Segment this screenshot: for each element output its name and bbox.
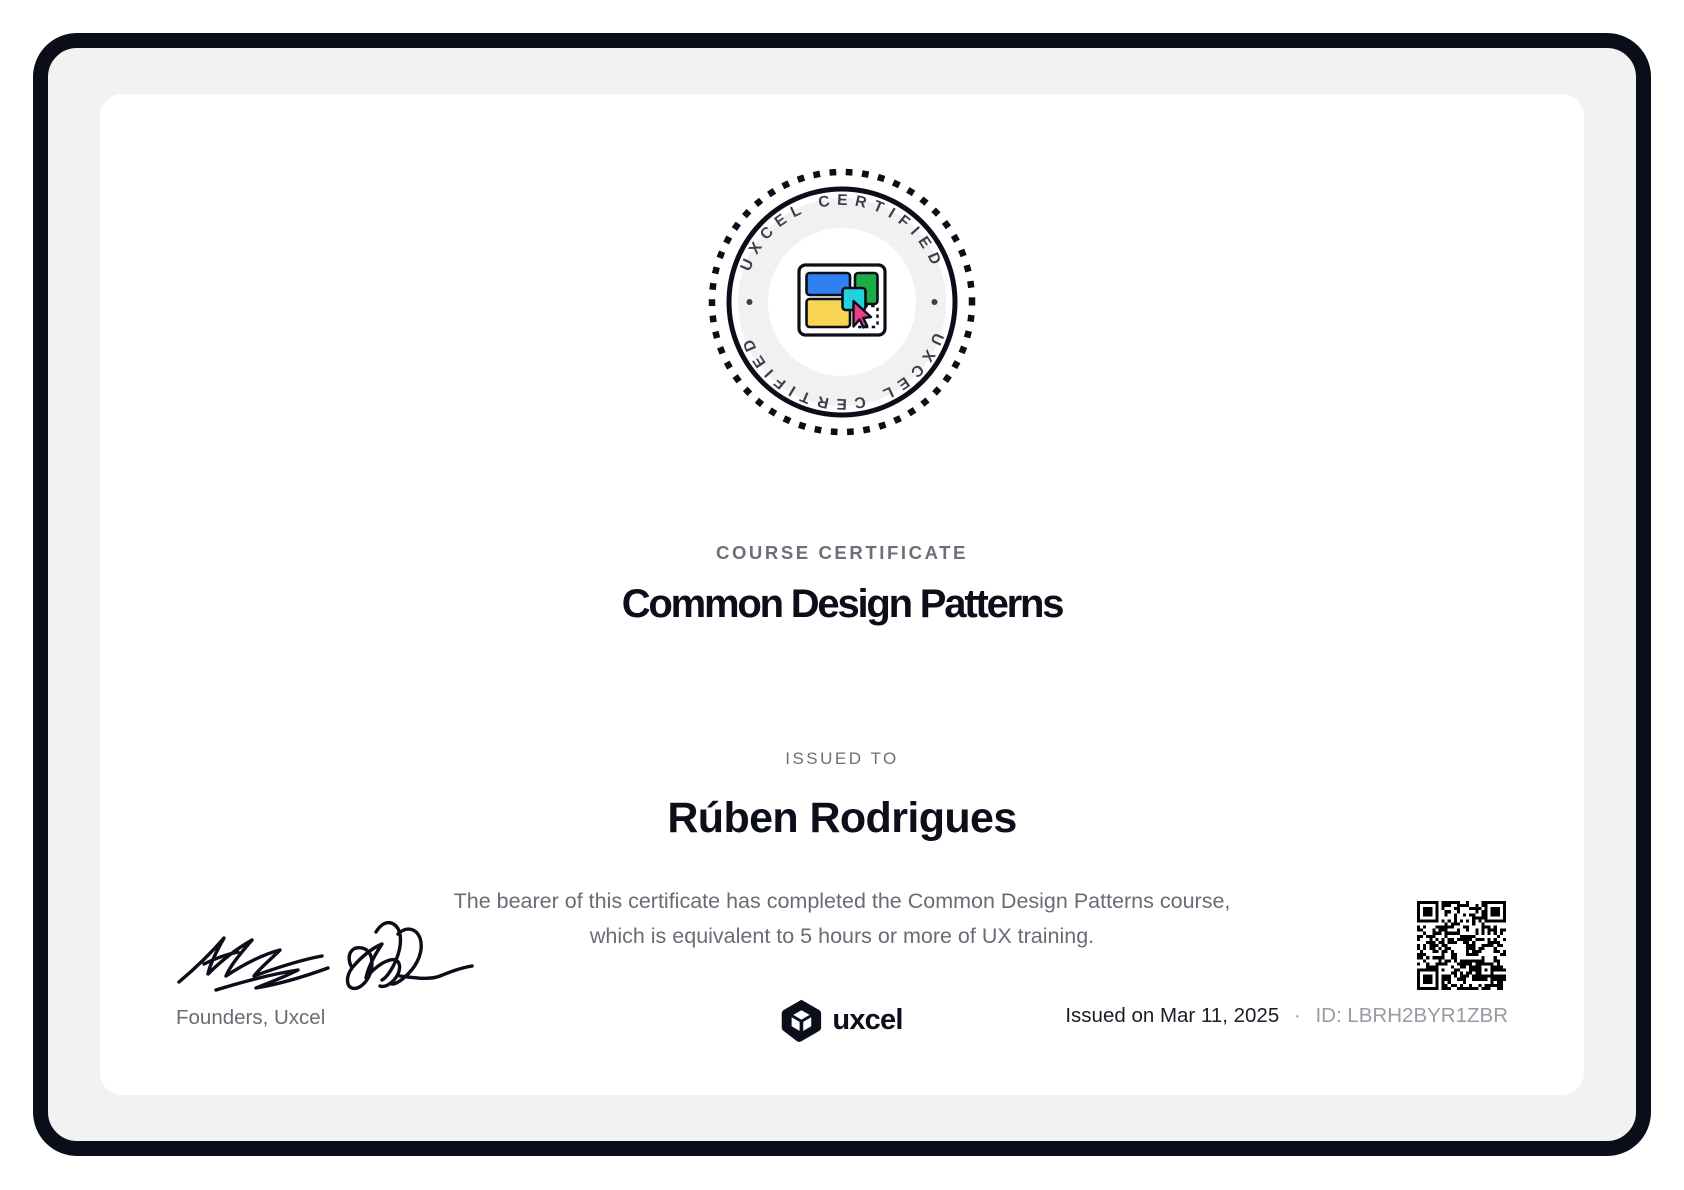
signature-icon	[176, 904, 476, 994]
uxcel-brand-logo: uxcel	[781, 999, 902, 1042]
uxcel-cube-hexagon-icon	[781, 999, 821, 1042]
certificate-card: UXCEL CERTIFIED UXCEL CERTIFIED	[100, 94, 1584, 1095]
certificate-id: ID: LBRH2BYR1ZBR	[1315, 1004, 1508, 1027]
issued-to-label: ISSUED TO	[100, 749, 1584, 769]
qr-code-icon	[1417, 901, 1506, 990]
eyebrow-label: COURSE CERTIFICATE	[100, 542, 1584, 564]
design-patterns-layout-icon	[799, 265, 885, 335]
recipient-name: Rúben Rodrigues	[100, 794, 1584, 843]
qr-code[interactable]	[1417, 901, 1506, 990]
description-text: The bearer of this certificate has compl…	[442, 884, 1242, 954]
certificate-frame: UXCEL CERTIFIED UXCEL CERTIFIED	[33, 33, 1651, 1156]
issuance-meta: Issued on Mar 11, 2025 · ID: LBRH2BYR1ZB…	[1065, 1004, 1508, 1028]
page-title: Common Design Patterns	[100, 582, 1584, 627]
certificate-seal: UXCEL CERTIFIED UXCEL CERTIFIED	[100, 166, 1584, 438]
uxcel-wordmark: uxcel	[832, 1004, 902, 1037]
founders-label: Founders, Uxcel	[176, 1006, 325, 1030]
founder-signatures	[176, 904, 476, 994]
meta-separator: ·	[1285, 1004, 1310, 1027]
seal-graphic: UXCEL CERTIFIED UXCEL CERTIFIED	[706, 166, 978, 438]
issue-date: Issued on Mar 11, 2025	[1065, 1004, 1279, 1027]
